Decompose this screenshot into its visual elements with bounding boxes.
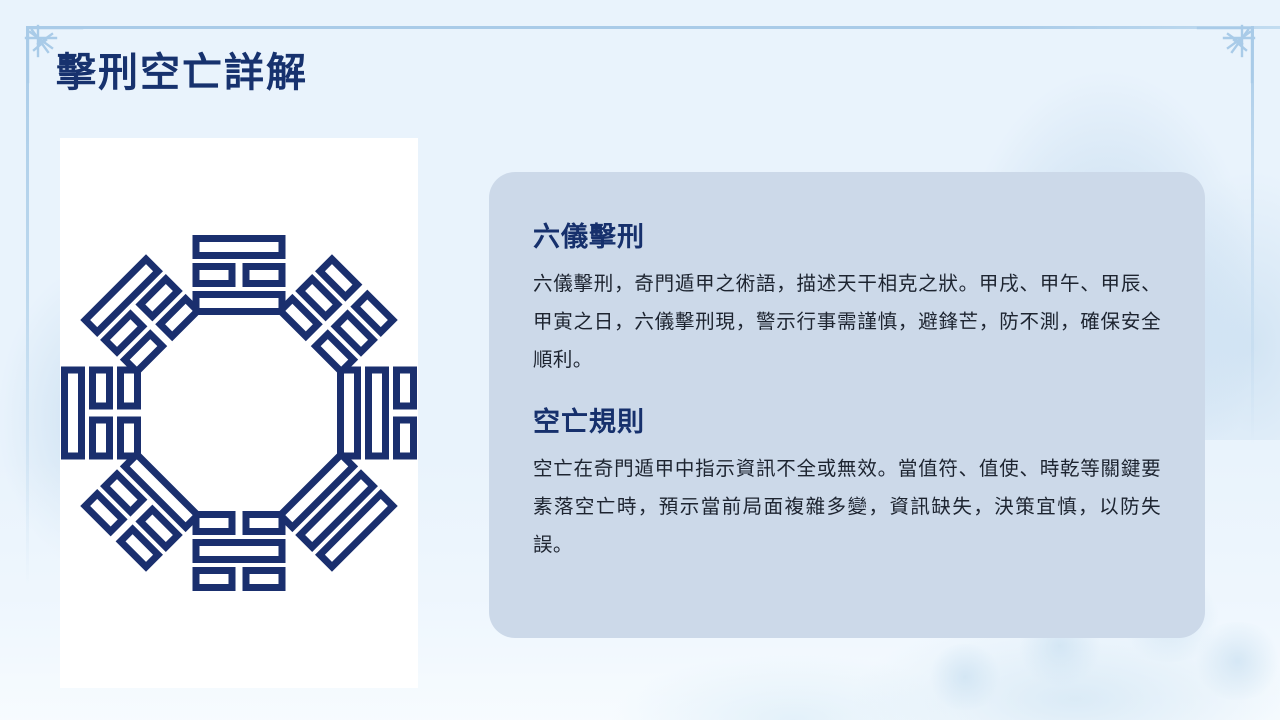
trigram-right — [341, 370, 414, 456]
section-heading: 空亡規則 — [533, 405, 1161, 440]
corner-ornament-top-right — [1194, 22, 1258, 91]
page-title: 擊刑空亡詳解 — [56, 48, 308, 98]
section-kongwang-rules: 空亡規則 空亡在奇門遁甲中指示資訊不全或無效。當值符、值使、時乾等關鍵要素落空亡… — [533, 405, 1161, 564]
frame-line-left — [26, 26, 29, 586]
slide-root: 擊刑空亡詳解 六儀擊刑 六儀擊刑，奇門遁甲之術語，描述天干相克之狀。甲戌、甲午、… — [0, 0, 1280, 720]
section-body: 六儀擊刑，奇門遁甲之術語，描述天干相克之狀。甲戌、甲午、甲辰、甲寅之日，六儀擊刑… — [533, 265, 1161, 379]
trigram-bottom-right — [280, 454, 392, 566]
bagua-diagram — [60, 213, 418, 613]
section-heading: 六儀擊刑 — [533, 220, 1161, 255]
section-liuyi-jixing: 六儀擊刑 六儀擊刑，奇門遁甲之術語，描述天干相克之狀。甲戌、甲午、甲辰、甲寅之日… — [533, 220, 1161, 379]
trigram-left — [65, 370, 138, 456]
tree-watermark-4 — [925, 644, 1005, 710]
trigram-top-right — [280, 259, 392, 371]
tree-watermark-3 — [1190, 622, 1280, 700]
info-panel: 六儀擊刑 六儀擊刑，奇門遁甲之術語，描述天干相克之狀。甲戌、甲午、甲辰、甲寅之日… — [489, 172, 1205, 638]
section-body: 空亡在奇門遁甲中指示資訊不全或無效。當值符、值使、時乾等關鍵要素落空亡時，預示當… — [533, 450, 1161, 564]
bagua-illustration-card — [60, 138, 418, 688]
trigram-top-left — [85, 259, 197, 371]
frame-line-top — [26, 26, 1280, 29]
bagua-svg — [60, 213, 418, 613]
trigram-bottom — [196, 515, 282, 588]
trigram-bottom-left — [85, 454, 197, 566]
trigram-top — [196, 239, 282, 312]
